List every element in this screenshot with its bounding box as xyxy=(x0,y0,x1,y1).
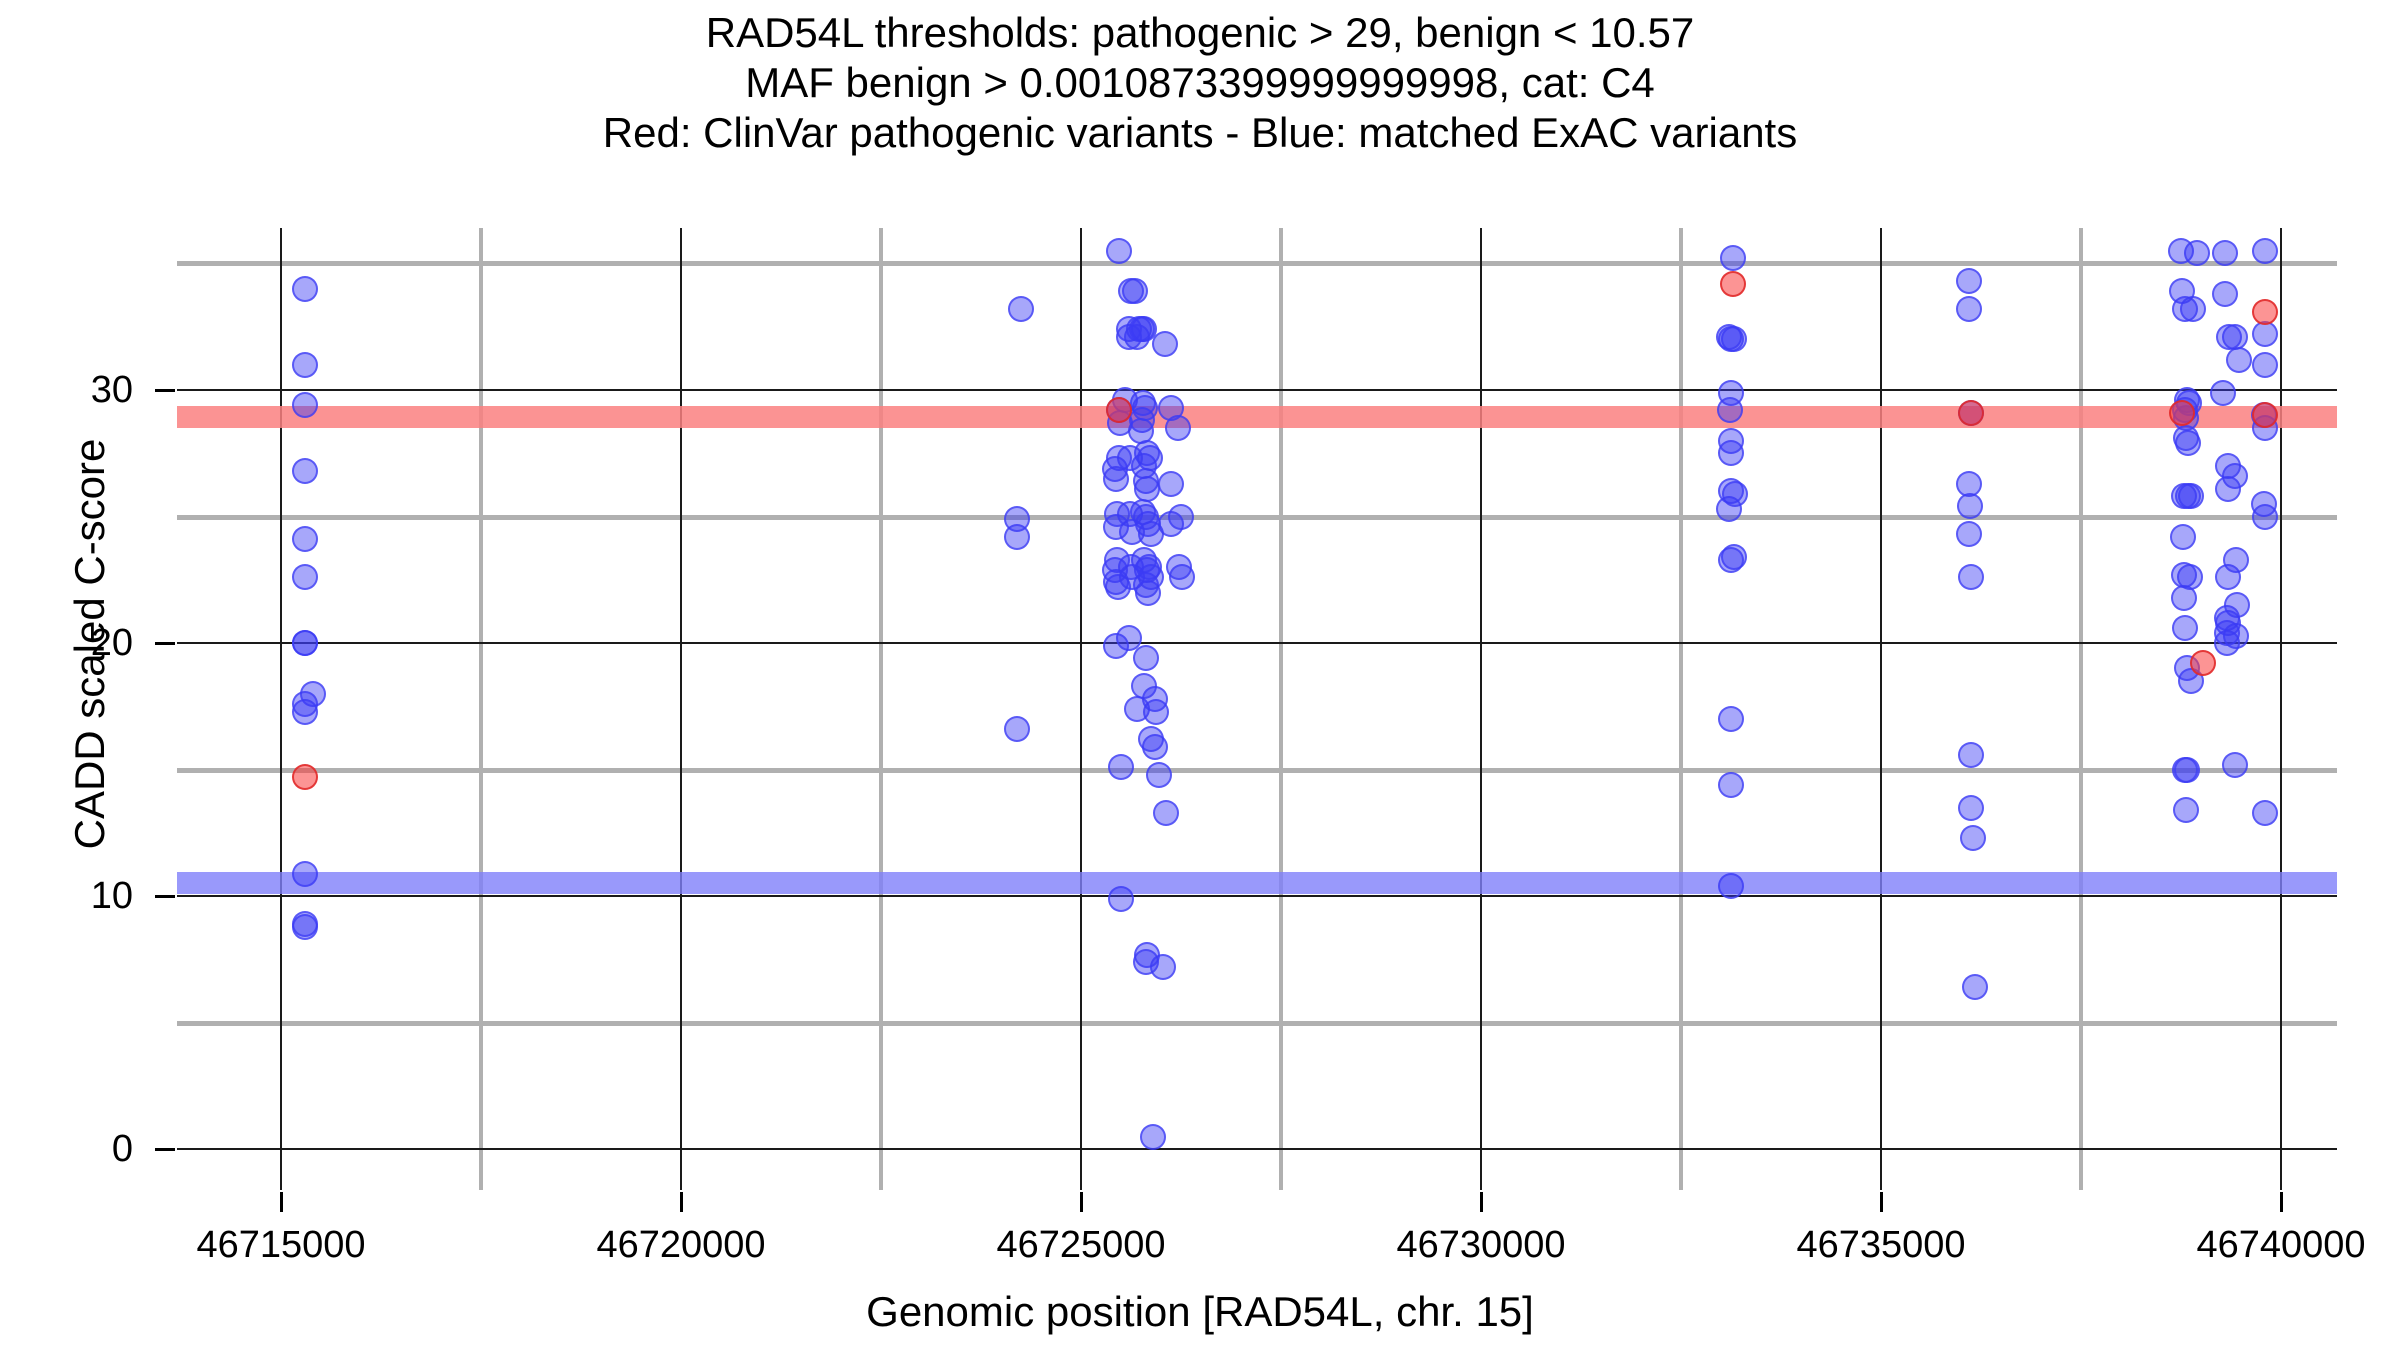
exac-point xyxy=(1008,296,1034,322)
gridline-vertical-minor xyxy=(879,228,883,1190)
exac-point xyxy=(1958,564,1984,590)
gridline-horizontal-major xyxy=(177,895,2337,897)
exac-point xyxy=(2171,585,2197,611)
exac-point xyxy=(2222,324,2248,350)
pathogenic-point xyxy=(292,764,318,790)
exac-point xyxy=(2180,296,2206,322)
exac-point xyxy=(1958,795,1984,821)
y-tick-mark xyxy=(155,1148,175,1151)
exac-point xyxy=(2223,547,2249,573)
exac-point xyxy=(1142,734,1168,760)
title-line-1: RAD54L thresholds: pathogenic > 29, beni… xyxy=(0,8,2400,58)
exac-point xyxy=(1150,954,1176,980)
exac-point xyxy=(1106,238,1132,264)
x-tick-label: 46740000 xyxy=(2081,1226,2400,1264)
exac-point xyxy=(2178,483,2204,509)
pathogenic-point xyxy=(1720,271,1746,297)
gridline-vertical-minor xyxy=(1279,228,1283,1190)
exac-point xyxy=(292,630,318,656)
exac-point xyxy=(1168,504,1194,530)
x-tick-label: 46730000 xyxy=(1281,1226,1681,1264)
x-tick-label: 46715000 xyxy=(81,1226,481,1264)
exac-point xyxy=(1956,296,1982,322)
exac-point xyxy=(1958,742,1984,768)
exac-point xyxy=(2252,238,2278,264)
exac-point xyxy=(1718,547,1744,573)
exac-point xyxy=(2252,352,2278,378)
gridline-vertical-minor xyxy=(1679,228,1683,1190)
exac-point xyxy=(292,458,318,484)
x-tick-mark xyxy=(280,1192,283,1212)
exac-point xyxy=(2175,430,2201,456)
exac-point xyxy=(1718,440,1744,466)
exac-point xyxy=(1135,580,1161,606)
y-tick-mark xyxy=(155,895,175,898)
exac-point xyxy=(1962,974,1988,1000)
exac-point xyxy=(1137,445,1163,471)
exac-point xyxy=(292,861,318,887)
exac-point xyxy=(2252,800,2278,826)
y-tick-label: 10 xyxy=(0,877,133,915)
pathogenic-point xyxy=(1958,400,1984,426)
exac-point xyxy=(2173,797,2199,823)
exac-point xyxy=(1140,1124,1166,1150)
exac-point xyxy=(1108,886,1134,912)
chart-root: RAD54L thresholds: pathogenic > 29, beni… xyxy=(0,0,2400,1350)
exac-point xyxy=(1717,397,1743,423)
exac-point xyxy=(1721,326,1747,352)
exac-point xyxy=(2210,380,2236,406)
x-tick-mark xyxy=(1480,1192,1483,1212)
exac-point xyxy=(2172,615,2198,641)
x-tick-mark xyxy=(680,1192,683,1212)
exac-point xyxy=(1004,716,1030,742)
gridline-vertical-minor xyxy=(2079,228,2083,1190)
exac-point xyxy=(2170,524,2196,550)
exac-point xyxy=(1716,496,1742,522)
gridline-horizontal-minor xyxy=(177,261,2337,266)
exac-point xyxy=(292,526,318,552)
gridline-horizontal-major xyxy=(177,389,2337,391)
exac-point xyxy=(1153,800,1179,826)
exac-point xyxy=(1134,476,1160,502)
exac-point xyxy=(1718,706,1744,732)
x-tick-label: 46720000 xyxy=(481,1226,881,1264)
gridline-vertical-major xyxy=(2280,228,2282,1190)
gridline-vertical-major xyxy=(680,228,682,1190)
exac-point xyxy=(292,699,318,725)
exac-point xyxy=(1165,415,1191,441)
title-line-3: Red: ClinVar pathogenic variants - Blue:… xyxy=(0,108,2400,158)
gridline-vertical-major xyxy=(1880,228,1882,1190)
exac-point xyxy=(1718,873,1744,899)
exac-point xyxy=(292,276,318,302)
exac-point xyxy=(1103,633,1129,659)
x-tick-label: 46735000 xyxy=(1681,1226,2081,1264)
gridline-horizontal-major xyxy=(177,642,2337,644)
x-axis-label: Genomic position [RAD54L, chr. 15] xyxy=(0,1288,2400,1336)
gridline-vertical-minor xyxy=(479,228,483,1190)
exac-point xyxy=(2252,321,2278,347)
exac-point xyxy=(1169,564,1195,590)
exac-point xyxy=(2222,752,2248,778)
y-tick-label: 20 xyxy=(0,624,133,662)
pathogenic-threshold-band xyxy=(177,406,2337,428)
x-tick-mark xyxy=(1880,1192,1883,1212)
exac-point xyxy=(292,564,318,590)
gridline-horizontal-minor xyxy=(177,768,2337,773)
exac-point xyxy=(1152,331,1178,357)
exac-point xyxy=(1720,245,1746,271)
exac-point xyxy=(1158,471,1184,497)
exac-point xyxy=(292,914,318,940)
exac-point xyxy=(1956,268,1982,294)
x-tick-mark xyxy=(2280,1192,2283,1212)
exac-point xyxy=(1146,762,1172,788)
exac-point xyxy=(1718,772,1744,798)
exac-point xyxy=(1960,825,1986,851)
benign-threshold-band xyxy=(177,872,2337,894)
gridline-vertical-major xyxy=(1080,228,1082,1190)
exac-point xyxy=(2252,504,2278,530)
y-tick-label: 30 xyxy=(0,371,133,409)
exac-point xyxy=(2174,757,2200,783)
gridline-horizontal-minor xyxy=(177,515,2337,520)
y-tick-mark xyxy=(155,389,175,392)
title-line-2: MAF benign > 0.0010873399999999998, cat:… xyxy=(0,58,2400,108)
exac-point xyxy=(2223,623,2249,649)
exac-point xyxy=(1124,696,1150,722)
exac-point xyxy=(2224,592,2250,618)
x-tick-mark xyxy=(1080,1192,1083,1212)
exac-point xyxy=(1133,645,1159,671)
exac-point xyxy=(2226,347,2252,373)
exac-point xyxy=(1122,278,1148,304)
y-tick-mark xyxy=(155,642,175,645)
plot-area xyxy=(177,228,2337,1190)
pathogenic-point xyxy=(2252,299,2278,325)
gridline-vertical-major xyxy=(1480,228,1482,1190)
gridline-horizontal-minor xyxy=(177,1021,2337,1026)
gridline-vertical-major xyxy=(280,228,282,1190)
exac-point xyxy=(2215,476,2241,502)
y-tick-label: 0 xyxy=(0,1130,133,1168)
exac-point xyxy=(292,352,318,378)
exac-point xyxy=(1004,524,1030,550)
gridline-horizontal-major xyxy=(177,1148,2337,1150)
exac-point xyxy=(1956,521,1982,547)
pathogenic-point xyxy=(2190,650,2216,676)
exac-point xyxy=(1108,754,1134,780)
pathogenic-point xyxy=(2169,400,2195,426)
exac-point xyxy=(2212,281,2238,307)
chart-title: RAD54L thresholds: pathogenic > 29, beni… xyxy=(0,8,2400,158)
x-tick-label: 46725000 xyxy=(881,1226,1281,1264)
